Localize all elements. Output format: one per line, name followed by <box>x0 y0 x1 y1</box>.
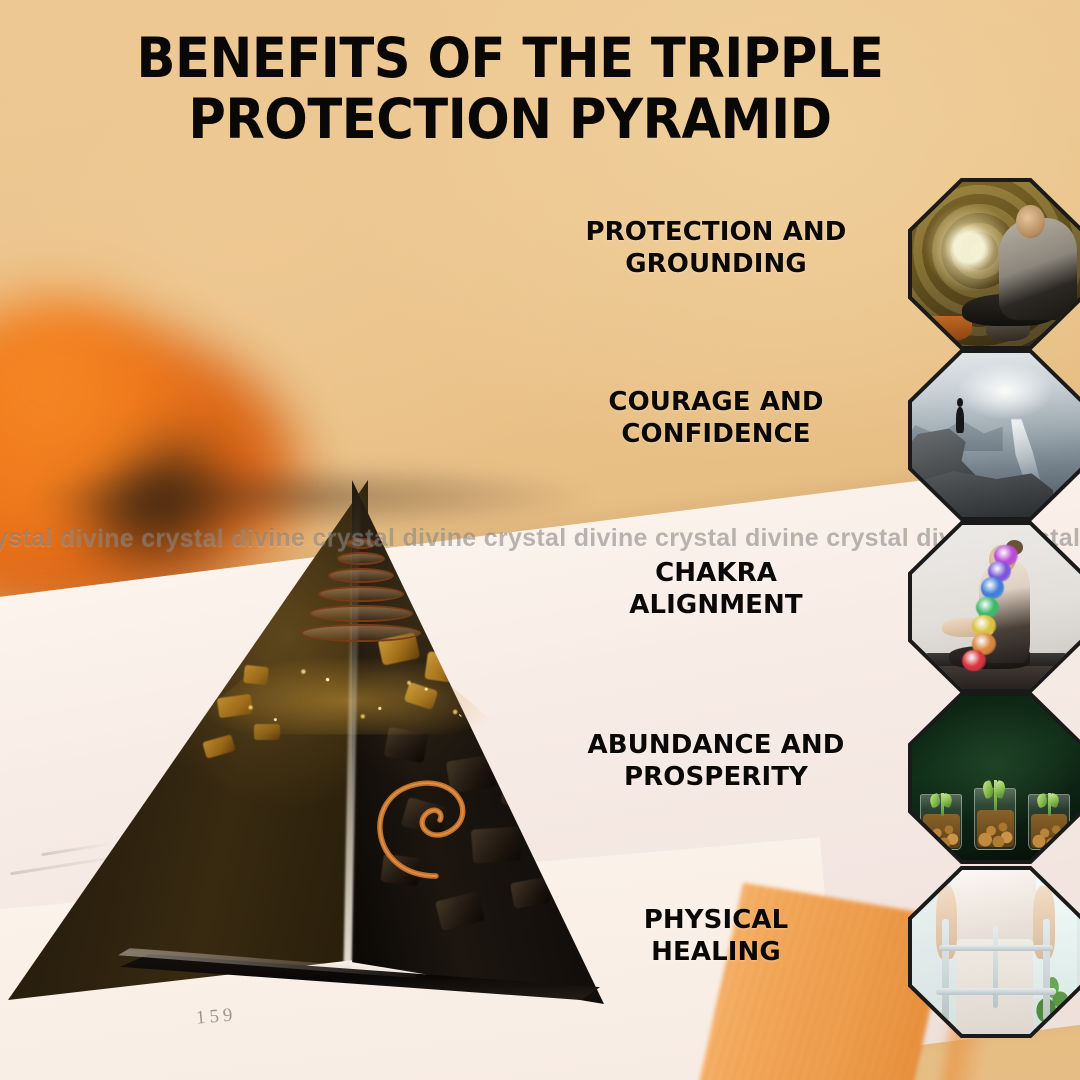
chakra-meditation-woman-image <box>912 525 1080 689</box>
benefit-label-protection-grounding: PROTECTION AND GROUNDING <box>551 217 881 280</box>
benefit-label-physical-healing: PHYSICAL HEALING <box>551 905 881 968</box>
benefit-label-line-1: PROTECTION AND <box>551 217 881 249</box>
benefit-label-abundance-prosperity: ABUNDANCE AND PROSPERITY <box>551 730 881 793</box>
benefit-label-courage-confidence: COURAGE AND CONFIDENCE <box>551 387 881 450</box>
orgonite-pyramid <box>0 462 620 1042</box>
coin-jars-sprouts-image <box>912 696 1080 860</box>
copper-coil-apex <box>286 532 436 652</box>
meditating-man-glowing-orb-image <box>912 182 1080 346</box>
walking-frame-therapy-image <box>912 870 1080 1034</box>
page-title: BENEFITS OF THE TRIPPLE PROTECTION PYRAM… <box>92 28 929 149</box>
benefit-label-line-1: COURAGE AND <box>551 387 881 419</box>
benefit-label-line-1: PHYSICAL <box>551 905 881 937</box>
benefit-label-line-1: ABUNDANCE AND <box>551 730 881 762</box>
page-title-line-2: PROTECTION PYRAMID <box>92 89 929 150</box>
copper-spiral-icon <box>344 728 524 888</box>
chakra-orb-root <box>962 650 986 671</box>
chakra-orb-throat <box>981 577 1005 598</box>
benefit-label-line-2: HEALING <box>551 937 881 969</box>
benefit-label-line-1: CHAKRA <box>551 558 881 590</box>
benefit-label-line-2: GROUNDING <box>551 249 881 281</box>
benefit-label-line-2: CONFIDENCE <box>551 419 881 451</box>
cliff-summit-person-image <box>912 353 1080 517</box>
benefit-label-line-2: ALIGNMENT <box>551 590 881 622</box>
benefit-label-chakra-alignment: CHAKRA ALIGNMENT <box>551 558 881 621</box>
benefit-label-line-2: PROSPERITY <box>551 762 881 794</box>
page-title-line-1: BENEFITS OF THE TRIPPLE <box>92 28 929 89</box>
infographic-canvas: 159 <box>0 0 1080 1080</box>
